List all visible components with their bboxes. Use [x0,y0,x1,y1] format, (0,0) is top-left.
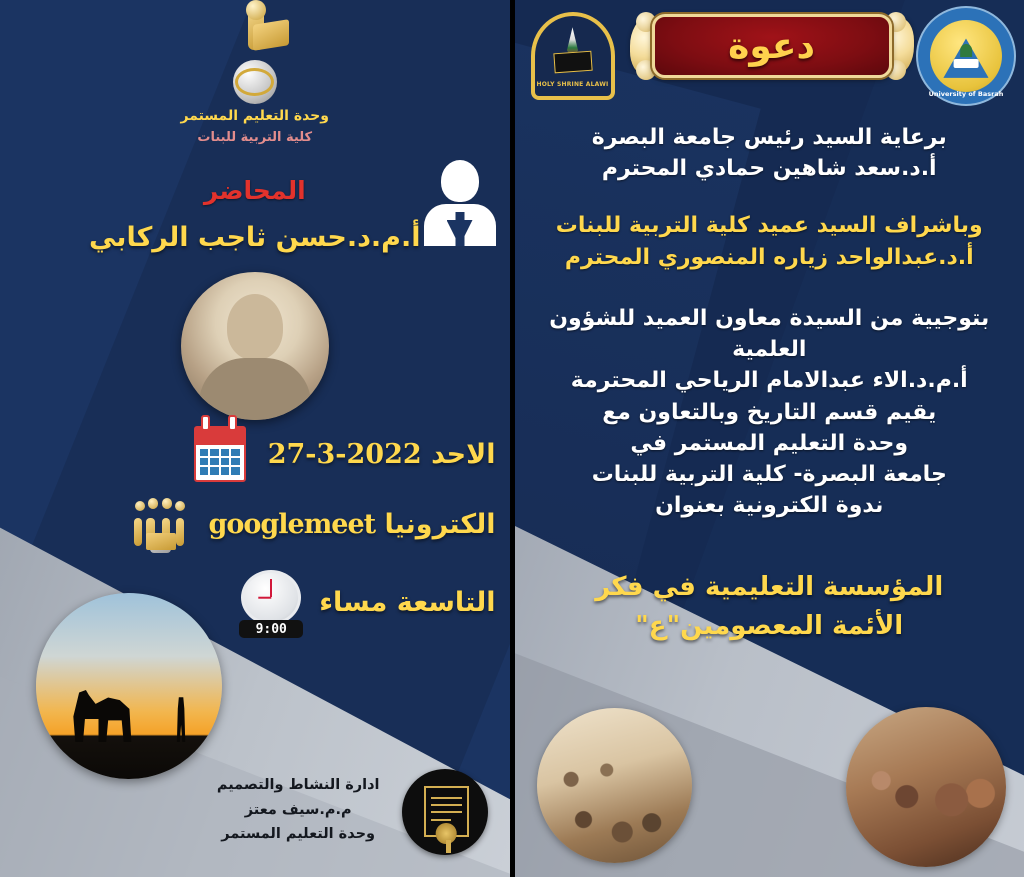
desert-camel-photo [36,593,222,779]
basrah-logo-caption: University of Basrah [918,90,1014,98]
invitation-poster: HOLY SHRINE ALAWI دعوة University of Bas… [0,0,1024,877]
platform-row: الكترونيا googlemeet [126,490,495,558]
person-icon [424,160,496,246]
clock-icon: 9:00 [237,568,305,636]
event-time: التاسعة مساء [319,587,495,618]
direction-line-6: ندوة الكترونية بعنوان [515,490,1024,521]
meeting-figure-1 [134,518,142,546]
basrah-logo-inner [930,20,1003,93]
calendar-icon [186,420,254,488]
event-date-day: الاحد [431,439,495,470]
direction-line-4: وحدة التعليم المستمر في [515,428,1024,459]
event-platform-value: googlemeet [208,509,375,540]
direction-line-1: بتوجيية من السيدة معاون العميد للشؤون ال… [515,303,1024,365]
direction-line-5: جامعة البصرة- كلية التربية للبنات [515,459,1024,490]
design-credits: ادارة النشاط والتصميم م.م.سيف معتز وحدة … [217,773,380,847]
camel-silhouette [69,679,166,742]
spacer-1 [515,184,1024,210]
basrah-logo-ring: University of Basrah [916,6,1016,106]
calendar-body [194,426,246,482]
event-platform-label: الكترونيا [385,509,496,540]
meeting-head-2 [148,498,158,508]
person-head-shape [441,160,479,202]
meeting-head-1 [135,501,145,511]
spacer-2 [515,273,1024,303]
date-row: الاحد 2022-3-27 [186,420,496,488]
continuing-education-unit-label: وحدة التعليم المستمر [0,108,510,124]
direction-line-3: يقيم قسم التاريخ وبالتعاون مع [515,397,1024,428]
credit-line-1: ادارة النشاط والتصميم [217,773,380,798]
mosque-arch-shape: HOLY SHRINE ALAWI [531,12,615,100]
meeting-head-4 [175,501,185,511]
clock-hour-hand [259,596,272,598]
direction-line-2: أ.م.د.الاء عبدالامام الرياحي المحترمة [515,365,1024,396]
calendar-ring-right [228,415,237,431]
clock-digital-display: 9:00 [239,620,303,638]
event-date: الاحد 2022-3-27 [268,439,496,470]
lecturer-photo [181,272,329,420]
lecturer-photo-body [199,358,311,420]
patronage-line-1: برعاية السيد رئيس جامعة البصرة [515,122,1024,153]
college-label: كلية التربية للبنات [0,130,510,145]
certificate-badge-icon [402,769,488,855]
clock-minute-hand [270,579,272,598]
invitation-badge-label: دعوة [652,14,892,78]
seminar-title-line-1: المؤسسة التعليمية في فكر [515,568,1024,607]
credit-line-3: وحدة التعليم المستمر [217,822,380,847]
historical-library-photo [846,707,1006,867]
supervision-line-1: وباشراف السيد عميد كلية التربية للبنات [515,210,1024,241]
basrah-logo-palm [960,44,972,57]
globe-icon [233,60,277,104]
right-content: وحدة التعليم المستمر كلية التربية للبنات… [0,0,510,877]
supervision-line-2: أ.د.عبدالواحد زياره المنصوري المحترم [515,242,1024,273]
patronage-line-2: أ.د.سعد شاهين حمادي المحترم [515,153,1024,184]
right-panel: وحدة التعليم المستمر كلية التربية للبنات… [0,0,515,877]
calendar-grid [200,449,240,475]
invitation-badge: دعوة [652,14,892,78]
left-panel: HOLY SHRINE ALAWI دعوة University of Bas… [515,0,1024,877]
meeting-figure-4 [176,518,184,546]
meeting-group-icon [126,490,194,558]
meeting-head-3 [162,498,172,508]
event-platform: الكترونيا googlemeet [208,509,495,540]
calendar-ring-left [201,415,210,431]
university-of-basrah-logo-icon: University of Basrah [916,6,1016,106]
shrine-book-shape [554,51,594,73]
time-row: 9:00 التاسعة مساء [237,568,495,636]
seminar-title-block: المؤسسة التعليمية في فكر الأئمة المعصومي… [515,568,1024,646]
meeting-table-top [146,533,175,550]
laptop-icon [253,19,289,51]
meeting-figures [128,492,192,556]
certificate-ribbon-shape [446,840,451,854]
credit-line-2: م.م.سيف معتز [217,798,380,823]
lecturer-photo-head [227,294,283,360]
holy-shrine-logo-icon: HOLY SHRINE ALAWI [525,6,621,106]
seminar-title-line-2: الأئمة المعصومين"ع" [515,607,1024,646]
person-tie-shape [455,212,464,246]
basrah-logo-book [954,59,979,68]
historical-scholars-photo [537,708,692,863]
shrine-logo-caption: HOLY SHRINE ALAWI [535,81,611,88]
man-silhouette [174,697,189,742]
clock-face [241,570,301,625]
event-date-value: 2022-3-27 [268,439,422,470]
continuing-education-emblem-icon [212,4,298,104]
